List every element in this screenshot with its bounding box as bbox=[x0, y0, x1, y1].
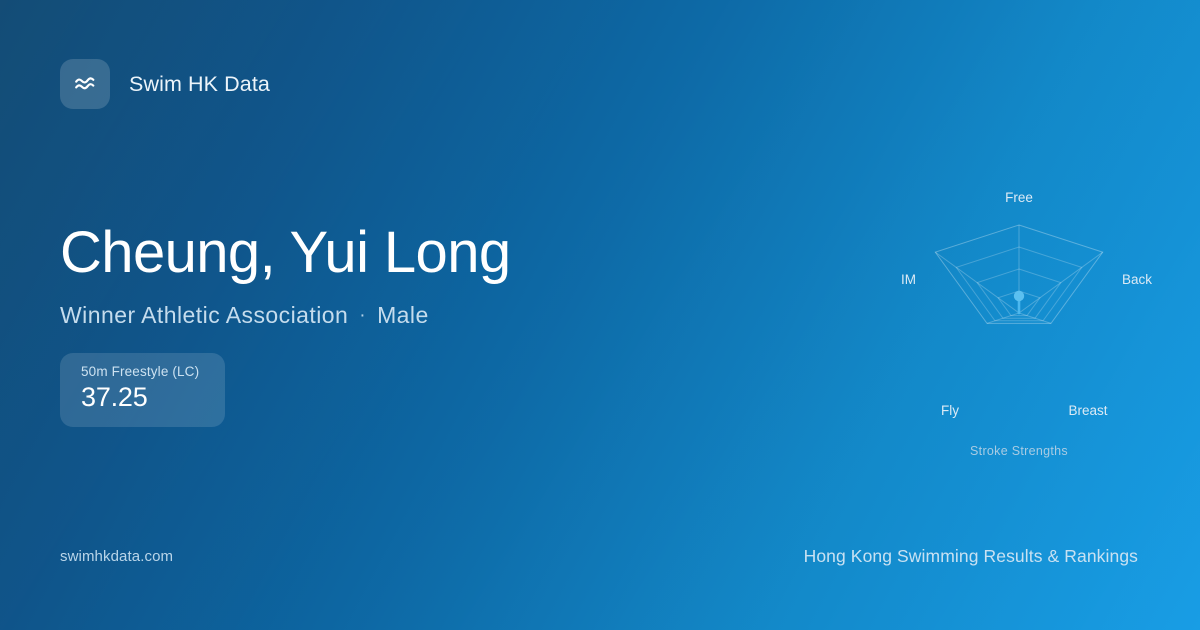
meta-separator: · bbox=[359, 305, 366, 327]
best-time-stat-card: 50m Freestyle (LC) 37.25 bbox=[60, 353, 225, 427]
radar-label-breast: Breast bbox=[1068, 403, 1107, 418]
athlete-club: Winner Athletic Association bbox=[60, 302, 348, 329]
athlete-meta: Winner Athletic Association · Male bbox=[60, 302, 511, 329]
stat-time-value: 37.25 bbox=[81, 382, 225, 413]
brand-lockup: Swim HK Data bbox=[60, 59, 270, 109]
waves-icon bbox=[60, 59, 110, 109]
radar-label-back: Back bbox=[1122, 272, 1152, 287]
stat-event-label: 50m Freestyle (LC) bbox=[81, 364, 225, 379]
brand-name: Swim HK Data bbox=[129, 72, 270, 97]
radar-spoke-im bbox=[935, 252, 1019, 313]
radar-data-point-free bbox=[1014, 291, 1024, 301]
footer-tagline: Hong Kong Swimming Results & Rankings bbox=[804, 546, 1138, 567]
athlete-name: Cheung, Yui Long bbox=[60, 222, 511, 283]
radar-spoke-back bbox=[1019, 252, 1103, 313]
stroke-strengths-radar-chart: Free Back Breast Fly IM Stroke Strengths bbox=[869, 178, 1169, 468]
radar-label-fly: Fly bbox=[941, 403, 959, 418]
radar-caption: Stroke Strengths bbox=[869, 444, 1169, 458]
athlete-gender: Male bbox=[377, 302, 429, 329]
hero-block: Cheung, Yui Long Winner Athletic Associa… bbox=[60, 222, 511, 329]
radar-label-im: IM bbox=[901, 272, 916, 287]
radar-label-free: Free bbox=[1005, 190, 1033, 205]
social-share-card: Swim HK Data Cheung, Yui Long Winner Ath… bbox=[0, 0, 1200, 630]
footer-site-url: swimhkdata.com bbox=[60, 548, 173, 565]
